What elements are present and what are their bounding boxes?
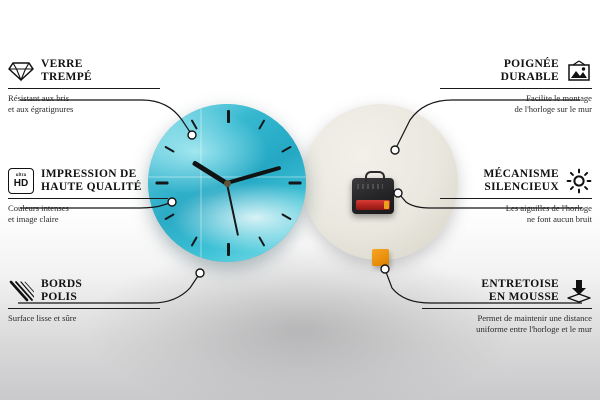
callout-description: Résistant aux bris et aux égratignures bbox=[8, 93, 160, 114]
callout-header: ENTRETOISE EN MOUSSE bbox=[422, 278, 592, 304]
callout-title: IMPRESSION DE HAUTE QUALITÉ bbox=[41, 168, 142, 194]
callout-desc-line2: ne font aucun bruit bbox=[527, 214, 592, 224]
callout-rule bbox=[8, 88, 160, 89]
callout-rule bbox=[8, 308, 160, 309]
callout-description: Couleurs intenses et image claire bbox=[8, 203, 168, 224]
callout-title: BORDS POLIS bbox=[41, 278, 82, 304]
ultra-hd-badge-icon: ultra HD bbox=[8, 168, 34, 194]
callout-desc-line1: Les aiguilles de l'horloge bbox=[506, 203, 592, 213]
callout-desc-line1: Surface lisse et sûre bbox=[8, 313, 77, 323]
callout-entretoise-en-mousse: ENTRETOISE EN MOUSSE Permet de maintenir… bbox=[422, 278, 592, 335]
callout-title-line2: DURABLE bbox=[501, 71, 559, 83]
callout-title-line2: SILENCIEUX bbox=[484, 181, 559, 193]
callout-title: MÉCANISME SILENCIEUX bbox=[483, 168, 559, 194]
callout-header: VERRE TREMPÉ bbox=[8, 58, 160, 84]
callout-rule bbox=[8, 198, 168, 199]
mechanism-hanger-tab bbox=[365, 171, 385, 182]
hour-marker bbox=[227, 110, 230, 123]
callout-desc-line2: et image claire bbox=[8, 214, 59, 224]
gear-icon bbox=[566, 168, 592, 194]
callout-mecanisme-silencieux: MÉCANISME SILENCIEUX Les aiguilles de l'… bbox=[440, 168, 592, 225]
callout-title-line2: POLIS bbox=[41, 291, 77, 303]
callout-description: Permet de maintenir une distance uniform… bbox=[422, 313, 592, 334]
battery bbox=[356, 200, 390, 210]
callout-title-line1: POIGNÉE bbox=[504, 58, 559, 70]
callout-poignee-durable: POIGNÉE DURABLE Facilite le montage de l… bbox=[440, 58, 592, 115]
callout-impression-haute-qualite: ultra HD IMPRESSION DE HAUTE QUALITÉ Cou… bbox=[8, 168, 168, 225]
diamond-icon bbox=[8, 58, 34, 84]
foam-spacer-arrow-icon bbox=[566, 278, 592, 304]
hour-marker bbox=[227, 243, 230, 256]
callout-header: BORDS POLIS bbox=[8, 278, 160, 304]
picture-hanger-icon bbox=[566, 58, 592, 84]
callout-title: VERRE TREMPÉ bbox=[41, 58, 92, 84]
callout-desc-line2: et aux égratignures bbox=[8, 104, 73, 114]
callout-title-line1: BORDS bbox=[41, 278, 82, 290]
callout-desc-line2: de l'horloge sur le mur bbox=[515, 104, 592, 114]
callout-desc-line1: Couleurs intenses bbox=[8, 203, 69, 213]
callout-title: ENTRETOISE EN MOUSSE bbox=[481, 278, 559, 304]
callout-header: POIGNÉE DURABLE bbox=[440, 58, 592, 84]
callout-description: Les aiguilles de l'horloge ne font aucun… bbox=[440, 203, 592, 224]
polished-edge-lines-icon bbox=[8, 278, 34, 304]
callout-rule bbox=[440, 198, 592, 199]
callout-description: Surface lisse et sûre bbox=[8, 313, 160, 324]
callout-title-line1: ENTRETOISE bbox=[481, 278, 559, 290]
callout-desc-line1: Résistant aux bris bbox=[8, 93, 69, 103]
clock-mechanism bbox=[352, 178, 394, 214]
hands-center-cap bbox=[224, 180, 231, 187]
callout-title-line2: TREMPÉ bbox=[41, 71, 92, 83]
callout-desc-line1: Permet de maintenir une distance bbox=[477, 313, 592, 323]
callout-desc-line1: Facilite le montage bbox=[526, 93, 592, 103]
callout-title-line1: VERRE bbox=[41, 58, 83, 70]
callout-header: ultra HD IMPRESSION DE HAUTE QUALITÉ bbox=[8, 168, 168, 194]
callout-rule bbox=[440, 88, 592, 89]
infographic-canvas: VERRE TREMPÉ Résistant aux bris et aux é… bbox=[0, 0, 600, 400]
callout-title-line2: HAUTE QUALITÉ bbox=[41, 181, 142, 193]
hd-badge-bottom: HD bbox=[14, 179, 28, 189]
callout-title-line2: EN MOUSSE bbox=[489, 291, 559, 303]
hd-badge: ultra HD bbox=[8, 168, 34, 194]
hour-marker bbox=[289, 182, 302, 185]
callout-rule bbox=[422, 308, 592, 309]
callout-title: POIGNÉE DURABLE bbox=[501, 58, 559, 84]
mechanism-detail bbox=[357, 184, 383, 189]
foam-spacer bbox=[372, 249, 389, 266]
callout-title-line1: IMPRESSION DE bbox=[41, 168, 137, 180]
clock-front-face bbox=[148, 104, 306, 262]
callout-bords-polis: BORDS POLIS Surface lisse et sûre bbox=[8, 278, 160, 324]
callout-title-line1: MÉCANISME bbox=[483, 168, 559, 180]
callout-description: Facilite le montage de l'horloge sur le … bbox=[440, 93, 592, 114]
callout-header: MÉCANISME SILENCIEUX bbox=[440, 168, 592, 194]
battery-terminal bbox=[384, 201, 389, 209]
callout-verre-trempe: VERRE TREMPÉ Résistant aux bris et aux é… bbox=[8, 58, 160, 115]
callout-desc-line2: uniforme entre l'horloge et le mur bbox=[476, 324, 592, 334]
